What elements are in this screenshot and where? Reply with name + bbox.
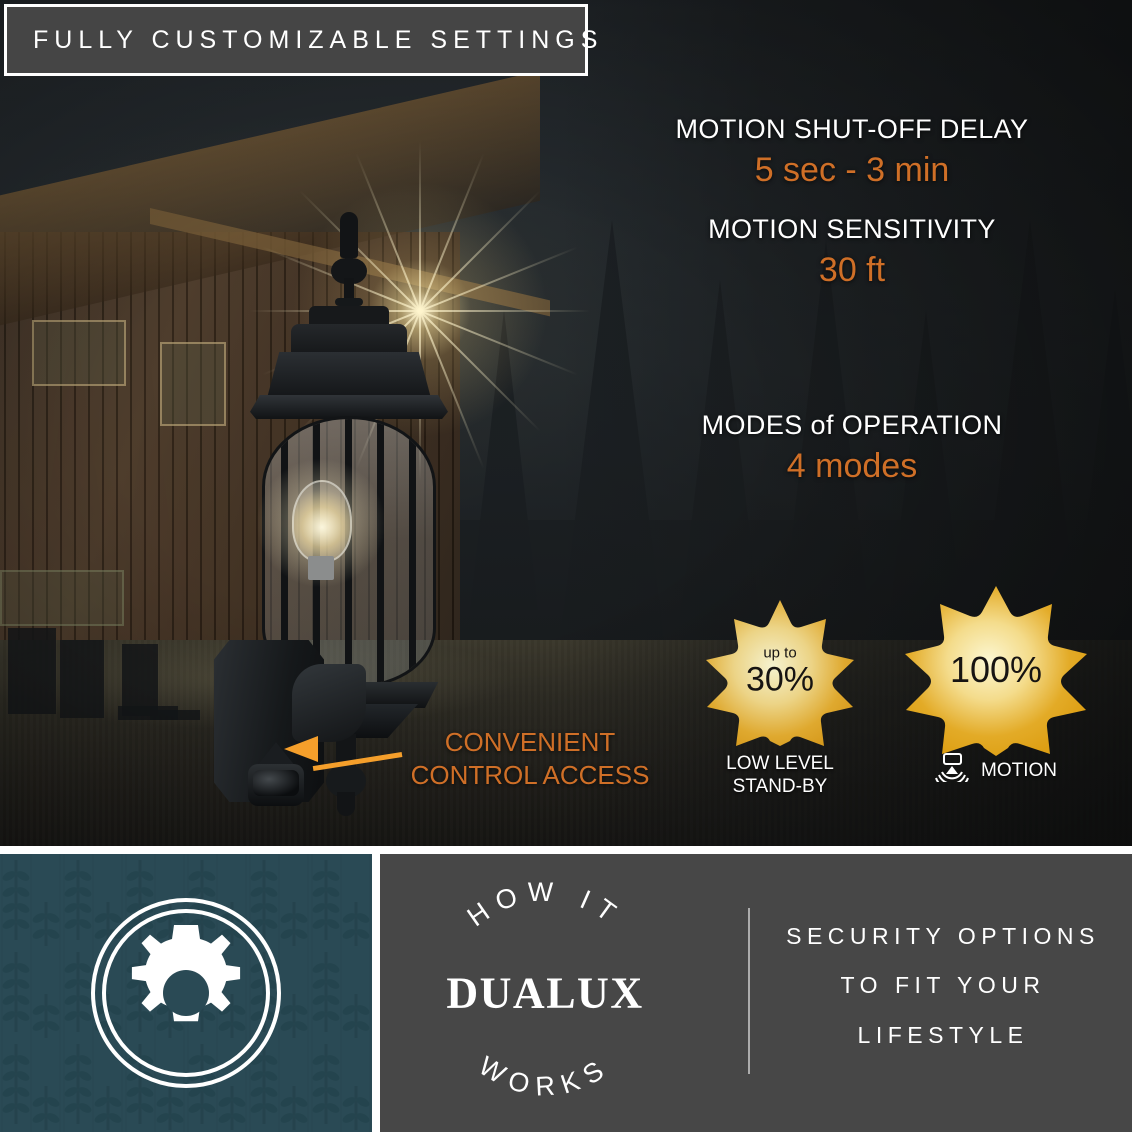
caption-line-1: LOW LEVEL — [690, 752, 870, 775]
badge-motion: 100% MOTION — [886, 584, 1106, 788]
badge-value-100: 100% — [886, 652, 1106, 688]
motion-sensor-lens — [253, 770, 299, 796]
brand-name: DUALUX — [420, 968, 670, 1019]
gear-icon — [88, 895, 284, 1091]
infographic-page: MOTION SHUT-OFF DELAY 5 sec - 3 min MOTI… — [0, 0, 1132, 1132]
svg-text:WORKS: WORKS — [474, 1051, 617, 1102]
banner-title: FULLY CUSTOMIZABLE SETTINGS — [7, 26, 603, 55]
patio-chair-1 — [8, 628, 56, 714]
badge-caption-motion: MOTION — [886, 752, 1106, 788]
wall-lantern-product — [196, 212, 496, 752]
spec-block-sensitivity: MOTION SENSITIVITY 30 ft — [572, 214, 1132, 290]
spec-label-modes: MODES of OPERATION — [572, 410, 1132, 441]
motion-sensor-icon — [935, 752, 969, 788]
barn-window-1 — [32, 320, 126, 386]
light-bulb — [292, 480, 352, 562]
spec-block-modes: MODES of OPERATION 4 modes — [572, 410, 1132, 486]
brand-lockup: HOW IT WORKS DUALUX — [420, 880, 670, 1106]
spec-block-shutoff: MOTION SHUT-OFF DELAY 5 sec - 3 min — [572, 114, 1132, 190]
badge-sub-30: up to — [690, 646, 870, 661]
callout-line-1: CONVENIENT — [400, 726, 660, 759]
tagline-line-2: TO FIT YOUR — [778, 961, 1108, 1010]
badge-caption-low-level: LOW LEVEL STAND-BY — [690, 752, 870, 798]
patio-chair-4 — [122, 644, 158, 716]
barn-window-3 — [0, 570, 124, 626]
starburst-30: up to 30% — [690, 596, 870, 746]
tagline-block: SECURITY OPTIONS TO FIT YOUR LIFESTYLE — [778, 912, 1108, 1060]
hero-photo: MOTION SHUT-OFF DELAY 5 sec - 3 min MOTI… — [0, 0, 1132, 846]
starburst-30-text: up to 30% — [690, 646, 870, 697]
vertical-divider — [748, 908, 750, 1074]
caption-line-2: STAND-BY — [690, 775, 870, 798]
arrow-left-icon — [284, 732, 394, 766]
mode-badges: up to 30% LOW LEVEL STAND-BY — [690, 596, 1110, 806]
spec-label-shutoff: MOTION SHUT-OFF DELAY — [572, 114, 1132, 145]
gear-panel — [0, 854, 372, 1132]
brand-arc-top: HOW IT — [462, 880, 629, 932]
spec-label-sensitivity: MOTION SENSITIVITY — [572, 214, 1132, 245]
header-banner: FULLY CUSTOMIZABLE SETTINGS — [4, 4, 588, 76]
spec-value-modes: 4 modes — [572, 447, 1132, 486]
caption-motion-label: MOTION — [981, 759, 1057, 782]
spec-value-shutoff: 5 sec - 3 min — [572, 151, 1132, 190]
callout-line-2: CONTROL ACCESS — [400, 759, 660, 792]
svg-text:HOW IT: HOW IT — [462, 880, 629, 932]
lantern-arm — [292, 664, 366, 742]
brand-arc-bottom: WORKS — [474, 1051, 617, 1102]
tagline-line-3: LIFESTYLE — [778, 1011, 1108, 1060]
badge-value-30: 30% — [690, 663, 870, 697]
tagline-line-1: SECURITY OPTIONS — [778, 912, 1108, 961]
starburst-100: 100% — [886, 584, 1106, 756]
patio-stool — [150, 710, 200, 720]
spec-value-sensitivity: 30 ft — [572, 251, 1132, 290]
badge-low-level: up to 30% LOW LEVEL STAND-BY — [690, 596, 870, 798]
starburst-100-text: 100% — [886, 652, 1106, 688]
convenient-control-callout: CONVENIENT CONTROL ACCESS — [400, 726, 660, 793]
patio-chair-2 — [60, 640, 104, 718]
